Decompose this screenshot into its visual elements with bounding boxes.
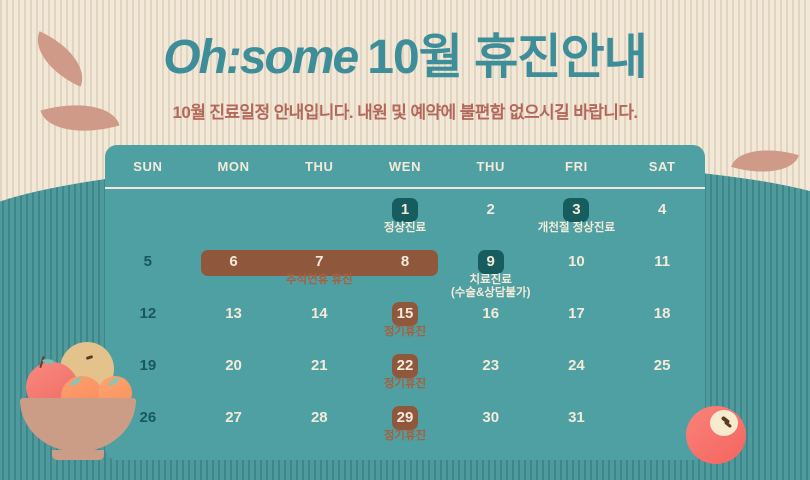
day-number: 23 <box>478 354 504 378</box>
day-number: 17 <box>563 302 589 326</box>
weekday-header-sat-6: SAT <box>619 159 705 174</box>
page-title: Oh:some10월 휴진안내 <box>0 34 810 82</box>
calendar-week-row: 19202122정기휴진232425 <box>105 345 705 397</box>
bowl-foot-icon <box>52 450 104 460</box>
day-number: 9 <box>478 250 504 274</box>
calendar-body: 1정상진료23개천절 정상진료4추석연휴 휴진56789치료진료(수술&상담불가… <box>105 189 705 449</box>
brand-logo: Oh:some <box>163 31 357 84</box>
day-note: 정기휴진 <box>384 326 426 339</box>
calendar-weekday-header: SUNMONTHUWENTHUFRISAT <box>105 145 705 189</box>
calendar-day-cell-empty <box>191 189 277 241</box>
calendar-day-cell-23[interactable]: 23 <box>448 345 534 397</box>
day-number: 10 <box>563 250 589 274</box>
day-number: 30 <box>478 406 504 430</box>
calendar-day-cell-5[interactable]: 5 <box>105 241 191 293</box>
calendar-week-row: 1정상진료23개천절 정상진료4 <box>105 189 705 241</box>
calendar-week-row: 추석연휴 휴진56789치료진료(수술&상담불가)1011 <box>105 241 705 293</box>
day-number: 6 <box>221 250 247 274</box>
calendar-day-cell-10[interactable]: 10 <box>534 241 620 293</box>
day-number: 1 <box>392 198 418 222</box>
calendar-day-cell-29[interactable]: 29정기휴진 <box>362 397 448 449</box>
calendar-day-cell-11[interactable]: 11 <box>619 241 705 293</box>
day-note: 치료진료(수술&상담불가) <box>451 274 530 300</box>
day-number: 7 <box>306 250 332 274</box>
calendar-day-cell-16[interactable]: 16 <box>448 293 534 345</box>
calendar-panel: SUNMONTHUWENTHUFRISAT 1정상진료23개천절 정상진료4추석… <box>105 145 705 460</box>
weekday-header-sun-0: SUN <box>105 159 191 174</box>
weekday-header-thu-2: THU <box>276 159 362 174</box>
day-number: 11 <box>649 250 675 274</box>
day-number: 31 <box>563 406 589 430</box>
apple-illustration-right <box>686 406 746 464</box>
weekday-header-fri-5: FRI <box>534 159 620 174</box>
day-number: 12 <box>135 302 161 326</box>
day-number: 4 <box>649 198 675 222</box>
holiday-span-label: 추석연휴 휴진 <box>286 274 353 287</box>
day-number: 3 <box>563 198 589 222</box>
day-number: 13 <box>221 302 247 326</box>
calendar-day-cell-4[interactable]: 4 <box>619 189 705 241</box>
calendar-day-cell-31[interactable]: 31 <box>534 397 620 449</box>
day-number: 14 <box>306 302 332 326</box>
calendar-day-cell-17[interactable]: 17 <box>534 293 620 345</box>
day-number: 27 <box>221 406 247 430</box>
calendar-day-cell-18[interactable]: 18 <box>619 293 705 345</box>
day-number: 21 <box>306 354 332 378</box>
day-note: 정기휴진 <box>384 430 426 443</box>
calendar-day-cell-empty <box>276 189 362 241</box>
calendar-day-cell-28[interactable]: 28 <box>276 397 362 449</box>
calendar-day-cell-30[interactable]: 30 <box>448 397 534 449</box>
calendar-day-cell-empty <box>105 189 191 241</box>
bowl-icon <box>20 400 136 452</box>
day-number: 15 <box>392 302 418 326</box>
calendar-day-cell-20[interactable]: 20 <box>191 345 277 397</box>
brand-colon-icon: : <box>226 31 240 84</box>
day-number: 18 <box>649 302 675 326</box>
calendar-day-cell-9[interactable]: 9치료진료(수술&상담불가) <box>448 241 534 293</box>
day-note: 정기휴진 <box>384 378 426 391</box>
calendar-week-row: 12131415정기휴진161718 <box>105 293 705 345</box>
brand-some-text: some <box>240 31 357 84</box>
calendar-day-cell-27[interactable]: 27 <box>191 397 277 449</box>
day-number: 22 <box>392 354 418 378</box>
calendar-day-cell-14[interactable]: 14 <box>276 293 362 345</box>
weekday-header-wen-3: WEN <box>362 159 448 174</box>
page-subtitle: 10월 진료일정 안내입니다. 내원 및 예약에 불편함 없으시길 바랍니다. <box>0 98 810 123</box>
calendar-day-cell-3[interactable]: 3개천절 정상진료 <box>534 189 620 241</box>
calendar-day-cell-25[interactable]: 25 <box>619 345 705 397</box>
brand-oh-text: Oh <box>163 31 226 84</box>
calendar-day-cell-21[interactable]: 21 <box>276 345 362 397</box>
calendar-week-row: 26272829정기휴진3031 <box>105 397 705 449</box>
day-number: 29 <box>392 406 418 430</box>
day-number: 2 <box>478 198 504 222</box>
day-number: 8 <box>392 250 418 274</box>
month-title-text: 10월 휴진안내 <box>367 31 647 84</box>
bowl-rim-icon <box>20 398 136 404</box>
poster-canvas: Oh:some10월 휴진안내 10월 진료일정 안내입니다. 내원 및 예약에… <box>0 0 810 480</box>
day-note: 정상진료 <box>384 222 426 235</box>
fruit-bowl-illustration <box>8 338 168 480</box>
day-note: 개천절 정상진료 <box>538 222 615 235</box>
day-number: 20 <box>221 354 247 378</box>
calendar-day-cell-13[interactable]: 13 <box>191 293 277 345</box>
weekday-header-thu-4: THU <box>448 159 534 174</box>
day-number: 28 <box>306 406 332 430</box>
day-number: 25 <box>649 354 675 378</box>
header: Oh:some10월 휴진안내 10월 진료일정 안내입니다. 내원 및 예약에… <box>0 34 810 123</box>
calendar-day-cell-2[interactable]: 2 <box>448 189 534 241</box>
calendar-day-cell-15[interactable]: 15정기휴진 <box>362 293 448 345</box>
day-number: 16 <box>478 302 504 326</box>
day-number: 5 <box>135 250 161 274</box>
calendar-day-cell-24[interactable]: 24 <box>534 345 620 397</box>
day-number: 24 <box>563 354 589 378</box>
calendar-day-cell-1[interactable]: 1정상진료 <box>362 189 448 241</box>
calendar-day-cell-22[interactable]: 22정기휴진 <box>362 345 448 397</box>
weekday-header-mon-1: MON <box>191 159 277 174</box>
